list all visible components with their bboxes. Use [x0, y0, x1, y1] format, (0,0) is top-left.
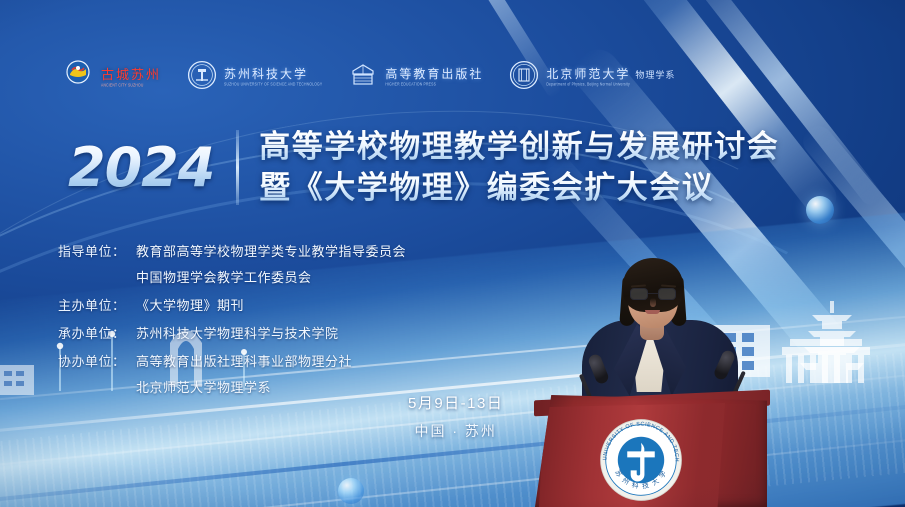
- colonnade-hall-icon: [782, 339, 870, 383]
- logo-suzhou-city-cn: 古城苏州: [101, 64, 161, 83]
- logo-hep-cn: 高等教育出版社: [385, 65, 483, 82]
- event-title-line-2: 暨《大学物理》编委会扩大会议: [259, 171, 779, 206]
- speaker-mouth: [645, 310, 660, 314]
- conference-backdrop: 古城苏州 ANCIENT CITY SUZHOU 苏州科技大学 SUZHOU U…: [0, 0, 905, 507]
- logo-bnu-cn: 北京师范大学: [546, 65, 630, 82]
- event-date: 5月9日-13日: [408, 392, 503, 413]
- logo-sust: 苏州科技大学 SUZHOU UNIVERSITY OF SCIENCE AND …: [187, 52, 322, 98]
- organizer-value: 教育部高等学校物理学类专业教学指导委员会: [136, 241, 406, 260]
- left-building-icon: [0, 365, 34, 395]
- light-streak-6: [797, 120, 905, 369]
- organizer-label: 承办单位：: [58, 323, 136, 342]
- organizer-row: 协办单位： 高等教育出版社理科事业部物理分社 北京师范大学物理学系: [58, 351, 406, 396]
- organizer-value: 中国物理学会教学工作委员会: [136, 267, 406, 286]
- organizer-value: 《大学物理》期刊: [136, 295, 244, 314]
- bnu-seal-icon: [509, 60, 539, 90]
- organizer-label: 主办单位：: [58, 295, 136, 314]
- event-place: 中国 · 苏州: [414, 421, 496, 441]
- logo-bnu-en: Department of Physics, Beijing Normal Un…: [546, 81, 675, 86]
- organizer-row: 承办单位： 苏州科技大学物理科学与技术学院: [58, 323, 406, 342]
- logo-bnu-sub: 物理学系: [635, 68, 675, 81]
- logo-sust-en: SUZHOU UNIVERSITY OF SCIENCE AND TECHNOL…: [224, 81, 322, 86]
- organizer-value: 高等教育出版社理科事业部物理分社: [136, 351, 352, 370]
- university-seal-icon: [187, 60, 217, 90]
- logo-bnu-physics: 北京师范大学 物理学系 Department of Physics, Beiji…: [509, 52, 675, 98]
- logo-suzhou-city: 古城苏州 ANCIENT CITY SUZHOU: [62, 52, 161, 98]
- speaker-and-podium: SUZHOU UNIVERSITY OF SCIENCE AND TECHNOL…: [540, 258, 790, 507]
- event-date-place: 5月9日-13日 中国 · 苏州: [408, 392, 503, 441]
- organizer-label: 协办单位：: [58, 351, 136, 370]
- organizer-list: 指导单位： 教育部高等学校物理学类专业教学指导委员会 中国物理学会教学工作委员会…: [58, 241, 406, 396]
- logo-sust-cn: 苏州科技大学: [224, 65, 322, 82]
- speaker-nose: [650, 298, 656, 307]
- event-title-line-1: 高等学校物理教学创新与发展研讨会: [259, 130, 779, 165]
- press-emblem-icon: [348, 60, 378, 90]
- podium-emblem-icon: SUZHOU UNIVERSITY OF SCIENCE AND TECHNOL…: [598, 417, 684, 503]
- organizer-row: 指导单位： 教育部高等学校物理学类专业教学指导委员会 中国物理学会教学工作委员会: [58, 241, 406, 286]
- organizer-row: 主办单位： 《大学物理》期刊: [58, 295, 406, 314]
- city-crest-icon: [62, 59, 94, 91]
- pagoda-icon: [800, 301, 864, 383]
- event-year: 2024: [68, 141, 236, 195]
- event-title-block: 2024 高等学校物理教学创新与发展研讨会 暨《大学物理》编委会扩大会议: [68, 130, 779, 205]
- logo-hep: 高等教育出版社 HIGHER EDUCATION PRESS: [348, 52, 483, 98]
- organizer-value: 苏州科技大学物理科学与技术学院: [136, 323, 339, 342]
- logo-suzhou-city-en: ANCIENT CITY SUZHOU: [101, 82, 161, 87]
- sponsor-logo-row: 古城苏州 ANCIENT CITY SUZHOU 苏州科技大学 SUZHOU U…: [62, 52, 675, 98]
- title-divider: [236, 130, 239, 205]
- logo-hep-en: HIGHER EDUCATION PRESS: [385, 81, 483, 86]
- organizer-value: 北京师范大学物理学系: [136, 377, 352, 396]
- glass-sphere-1: [806, 196, 834, 224]
- organizer-label: 指导单位：: [58, 241, 136, 260]
- glass-sphere-2: [338, 478, 364, 504]
